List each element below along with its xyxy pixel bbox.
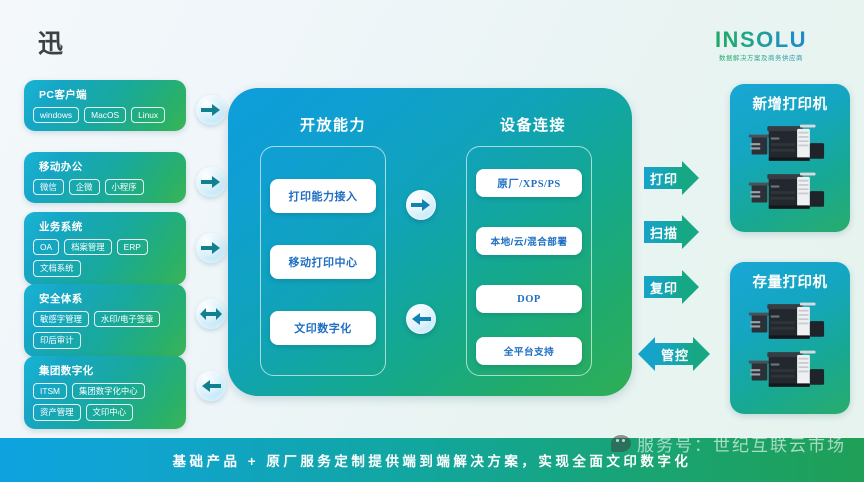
device-item-dop[interactable]: DOP [476,285,582,313]
tag-item[interactable]: 文印中心 [86,404,134,420]
tag-item[interactable]: 水印/电子签章 [94,311,161,327]
logo-wordmark: INSOLU [686,28,836,51]
tag-item[interactable]: ERP [117,239,148,255]
left-card-tags: ITSM 集团数字化中心 资产管理 文印中心 [33,383,177,421]
printer-panel-existing[interactable]: 存量打印机 [730,262,850,414]
left-card-tags: 微信 企微 小程序 [33,179,177,195]
left-card-title: 移动办公 [39,159,177,174]
device-connection-heading: 设备连接 [458,114,608,135]
printer-icon [747,297,833,341]
device-item-original-xps-ps[interactable]: 原厂/XPS/PS [476,169,582,197]
center-panel: 开放能力 设备连接 打印能力接入 移动打印中心 文印数字化 原厂/XPS/PS … [228,88,632,396]
flow-label-print: 打印 [644,161,699,195]
left-card-title: 业务系统 [39,219,177,234]
arrow-right-icon [196,95,226,125]
printer-panel-title: 存量打印机 [730,262,850,292]
printer-icon [747,167,833,211]
arrow-bidirectional-icon [196,299,226,329]
open-capability-heading: 开放能力 [258,114,408,135]
tag-item[interactable]: ITSM [33,383,67,399]
tag-item[interactable]: 集团数字化中心 [72,383,145,399]
chevron-right-icon [682,270,699,304]
tag-item[interactable]: Linux [131,107,165,123]
left-card-business-system[interactable]: 业务系统 OA 档案管理 ERP 文档系统 [24,212,186,285]
left-card-security-system[interactable]: 安全体系 敏感字管理 水印/电子签章 印后审计 [24,284,186,357]
left-card-tags: 敏感字管理 水印/电子签章 印后审计 [33,311,177,349]
open-item-print-access[interactable]: 打印能力接入 [270,179,376,213]
arrow-right-icon [406,190,436,220]
tag-item[interactable]: MacOS [84,107,126,123]
left-card-group-digitalization[interactable]: 集团数字化 ITSM 集团数字化中心 资产管理 文印中心 [24,356,186,429]
open-capability-box: 打印能力接入 移动打印中心 文印数字化 [260,146,386,376]
device-item-all-platform-support[interactable]: 全平台支持 [476,337,582,365]
left-card-mobile-office[interactable]: 移动办公 微信 企微 小程序 [24,152,186,203]
arrow-right-icon [196,233,226,263]
bottom-banner: 基础产品 + 原厂服务定制提供端到端解决方案，实现全面文印数字化 [0,438,864,482]
brand-logo: INSOLU 数据解决方案及商务供应商 [686,28,836,62]
tag-item[interactable]: 文档系统 [33,260,81,276]
tag-item[interactable]: OA [33,239,59,255]
flow-label-text: 打印 [644,167,682,189]
logo-tagline: 数据解决方案及商务供应商 [686,53,836,62]
tag-item[interactable]: 档案管理 [64,239,112,255]
flow-label-text: 扫描 [644,221,682,243]
arrow-right-icon [196,167,226,197]
flow-label-scan: 扫描 [644,215,699,249]
tag-item[interactable]: 微信 [33,179,64,195]
chevron-right-icon [682,161,699,195]
printer-panel-new[interactable]: 新增打印机 [730,84,850,232]
open-item-mobile-print-center[interactable]: 移动打印中心 [270,245,376,279]
flow-label-copy: 复印 [644,270,699,304]
printer-list [730,292,850,397]
device-item-local-cloud-hybrid[interactable]: 本地/云/混合部署 [476,227,582,255]
left-card-tags: OA 档案管理 ERP 文档系统 [33,239,177,277]
flow-label-text: 管控 [655,343,693,365]
chevron-right-icon [682,215,699,249]
printer-panel-title: 新增打印机 [730,84,850,114]
slide-root: 迅 INSOLU 数据解决方案及商务供应商 PC客户端 windows MacO… [0,0,864,482]
left-card-title: 集团数字化 [39,363,177,378]
tag-item[interactable]: 企微 [69,179,100,195]
left-card-title: PC客户端 [39,87,177,102]
open-item-print-digitalization[interactable]: 文印数字化 [270,311,376,345]
tag-item[interactable]: 印后审计 [33,332,81,348]
left-card-title: 安全体系 [39,291,177,306]
left-card-pc-client[interactable]: PC客户端 windows MacOS Linux [24,80,186,131]
printer-icon [747,345,833,389]
tag-item[interactable]: windows [33,107,79,123]
page-title: 迅 [38,24,64,60]
flow-label-control: 管控 [638,337,710,371]
printer-list [730,114,850,219]
device-connection-box: 原厂/XPS/PS 本地/云/混合部署 DOP 全平台支持 [466,146,592,376]
printer-icon [747,119,833,163]
chevron-right-icon [693,337,710,371]
tag-item[interactable]: 小程序 [105,179,144,195]
banner-text: 基础产品 + 原厂服务定制提供端到端解决方案，实现全面文印数字化 [173,450,692,470]
left-card-tags: windows MacOS Linux [33,107,177,123]
arrow-left-icon [406,304,436,334]
arrow-left-icon [196,371,226,401]
tag-item[interactable]: 资产管理 [33,404,81,420]
tag-item[interactable]: 敏感字管理 [33,311,89,327]
chevron-left-icon [638,337,655,371]
flow-label-text: 复印 [644,276,682,298]
